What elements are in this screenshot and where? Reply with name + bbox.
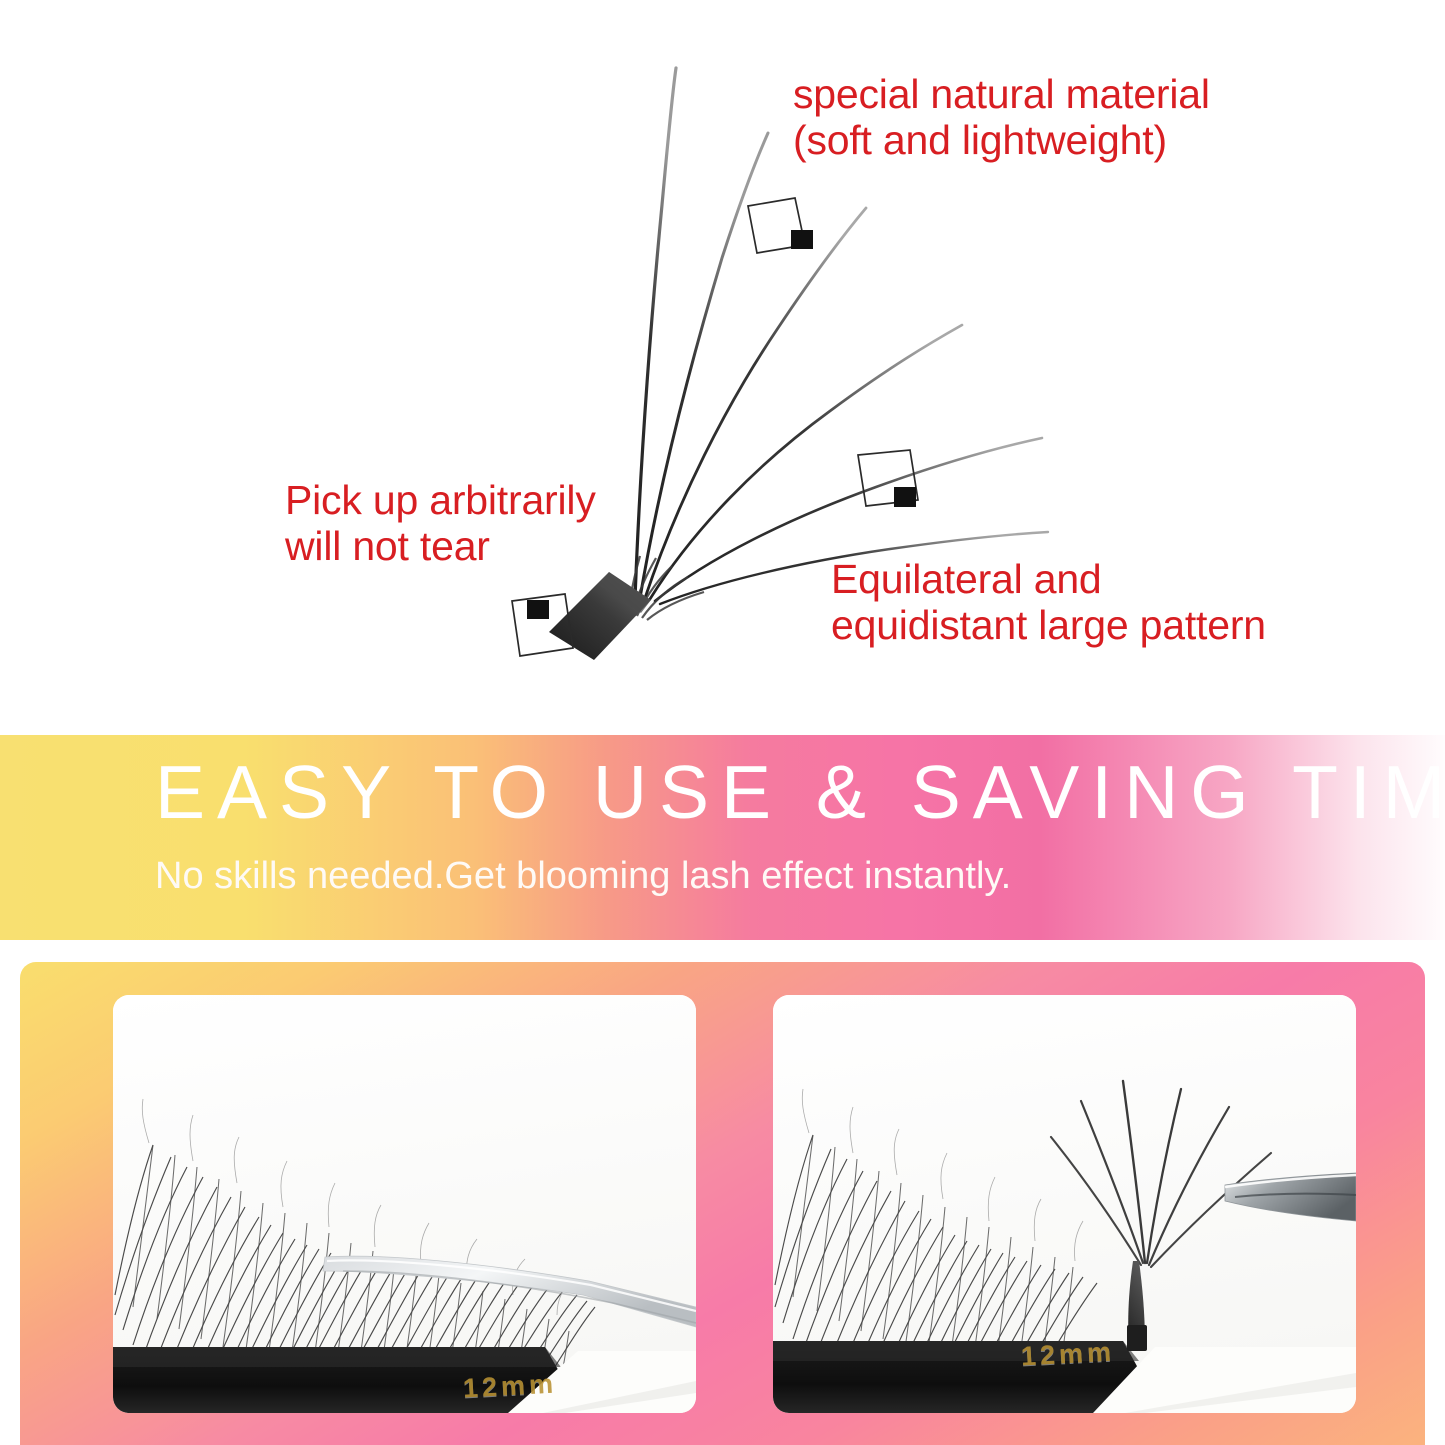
callout-marker-2 (858, 450, 918, 507)
photo-card-lash-fan: 12mm (773, 995, 1356, 1413)
callout-special-material: special natural material (soft and light… (793, 72, 1210, 164)
banner-headline: EASY TO USE & SAVING TIME (155, 755, 1445, 830)
lash-length-label: 12mm (462, 1369, 558, 1405)
callout-pick-up: Pick up arbitrarily will not tear (285, 478, 596, 570)
promo-banner: EASY TO USE & SAVING TIME No skills need… (0, 735, 1445, 940)
lash-diagram-section: special natural material (soft and light… (0, 0, 1445, 733)
lash-length-label: 12mm (1020, 1337, 1116, 1373)
photo-gallery-panel: 12mm (20, 962, 1425, 1445)
photo-card-lash-tray: 12mm (113, 995, 696, 1413)
callout-equilateral: Equilateral and equidistant large patter… (831, 557, 1266, 649)
banner-subheadline: No skills needed.Get blooming lash effec… (155, 857, 1011, 895)
callout-marker-1 (748, 198, 813, 253)
lash-tray-photo (113, 995, 696, 1413)
